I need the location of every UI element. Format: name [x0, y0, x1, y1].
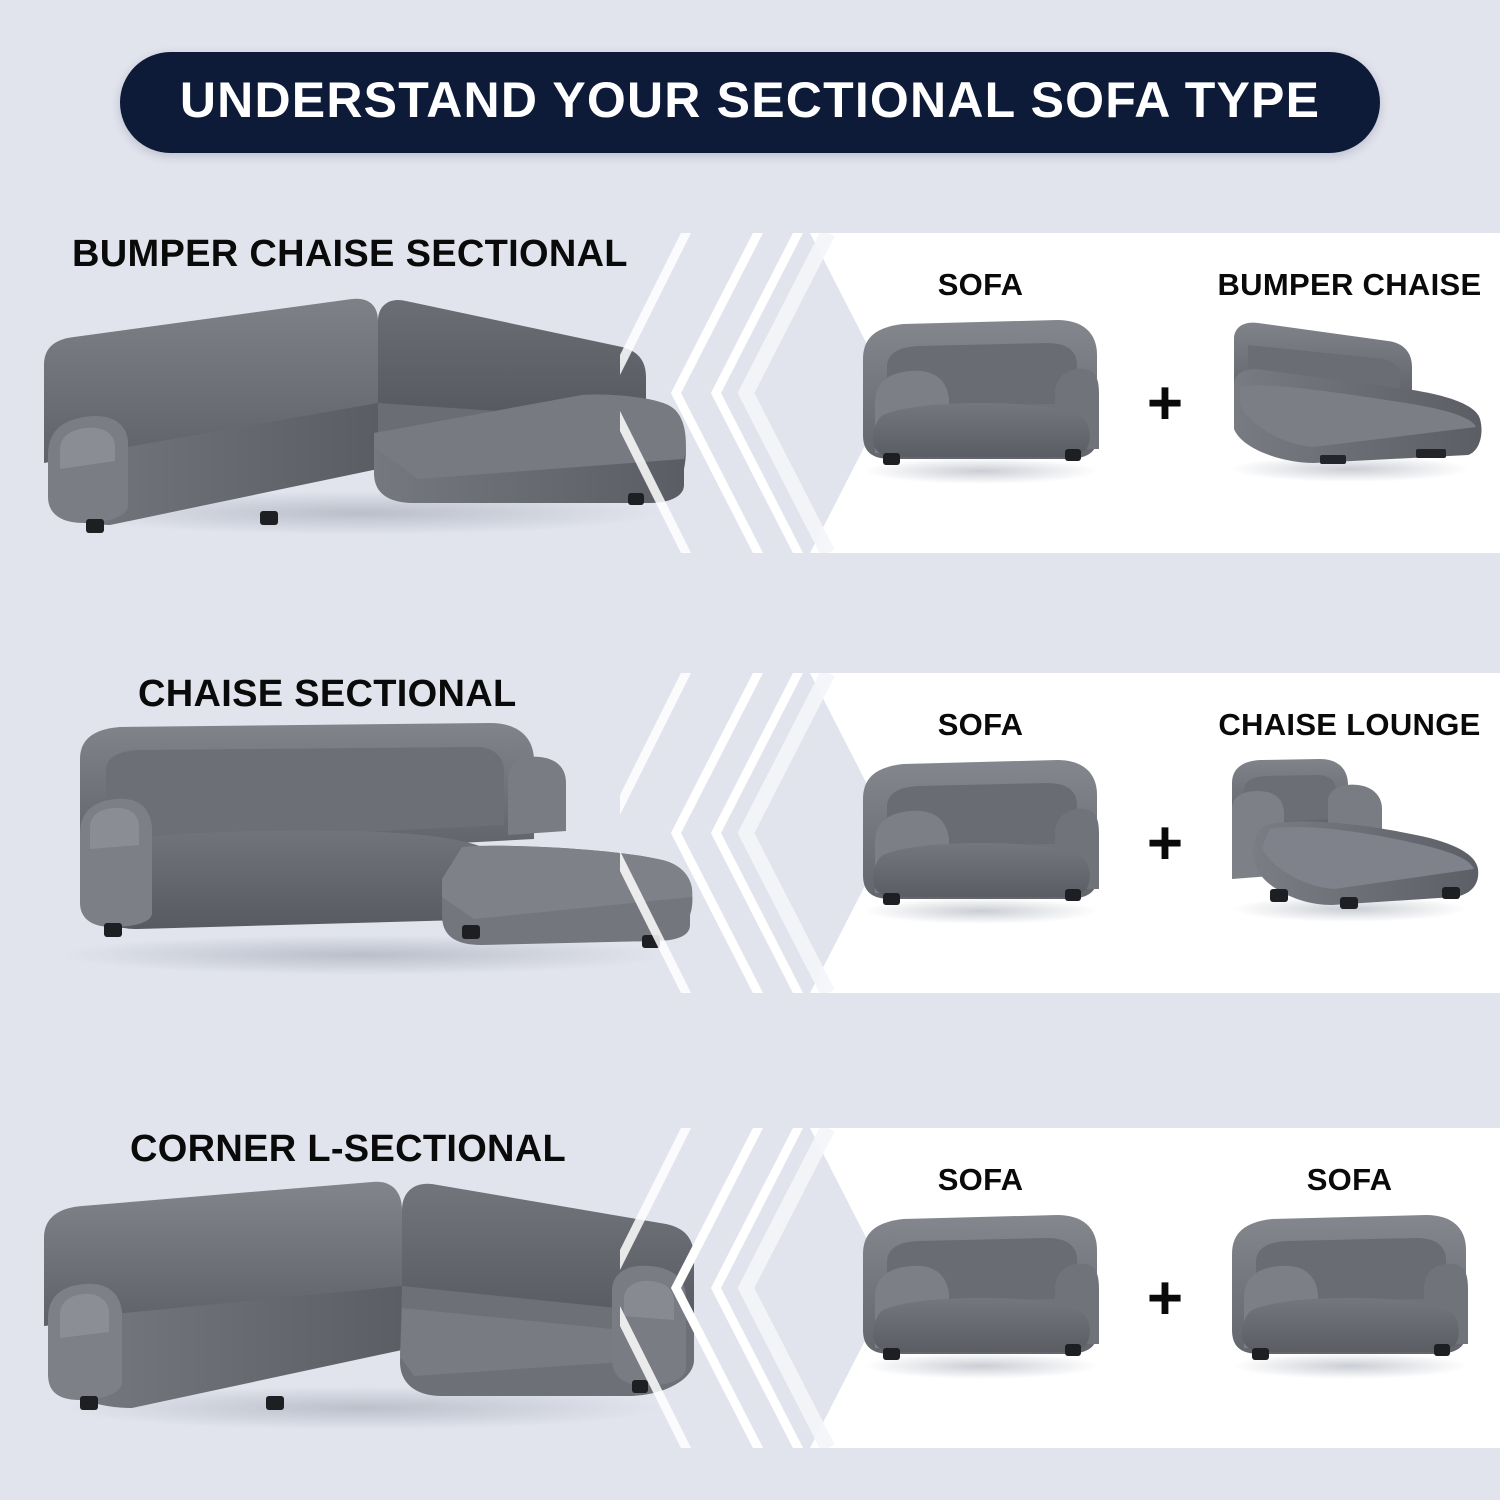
part-label: CHAISE LOUNGE: [1218, 707, 1480, 743]
title-banner-wrapper: UNDERSTAND YOUR SECTIONAL SOFA TYPE: [0, 52, 1500, 153]
title-banner: UNDERSTAND YOUR SECTIONAL SOFA TYPE: [120, 52, 1380, 153]
section-bumper-chaise-sectional: BUMPER CHAISE SECTIONAL: [0, 215, 1500, 555]
three-seat-sofa-icon: [1210, 1202, 1490, 1382]
part-item: CHAISE LOUNGE: [1207, 683, 1492, 983]
section-chaise-sectional: CHAISE SECTIONAL: [0, 655, 1500, 995]
comparison-panel: SOFA: [620, 233, 1500, 553]
parts-breakdown: SOFA: [830, 673, 1500, 993]
plus-operator: +: [1137, 373, 1193, 435]
plus-operator: +: [1137, 1268, 1193, 1330]
comparison-panel: SOFA: [620, 1128, 1500, 1448]
page-title: UNDERSTAND YOUR SECTIONAL SOFA TYPE: [180, 74, 1320, 127]
part-item: SOFA: [838, 243, 1123, 543]
part-label: SOFA: [1307, 1162, 1393, 1198]
hero-bumper-chaise-sectional-icon: [22, 273, 722, 541]
hero-chaise-sectional-icon: [22, 713, 722, 981]
section-title: BUMPER CHAISE SECTIONAL: [72, 233, 628, 276]
part-item: BUMPER CHAISE: [1207, 243, 1492, 543]
part-item: SOFA: [1207, 1138, 1492, 1438]
three-seat-sofa-icon: [841, 307, 1121, 487]
comparison-panel: SOFA: [620, 673, 1500, 993]
section-title: CORNER L-SECTIONAL: [130, 1128, 566, 1171]
part-label: SOFA: [938, 267, 1024, 303]
three-seat-sofa-icon: [841, 747, 1121, 927]
section-corner-l-sectional: CORNER L-SECTIONAL: [0, 1110, 1500, 1450]
part-label: SOFA: [938, 1162, 1024, 1198]
three-seat-sofa-icon: [841, 1202, 1121, 1382]
part-item: SOFA: [838, 1138, 1123, 1438]
part-label: BUMPER CHAISE: [1218, 267, 1482, 303]
hero-corner-l-sectional-icon: [22, 1168, 722, 1436]
parts-breakdown: SOFA: [830, 1128, 1500, 1448]
chaise-lounge-module-icon: [1210, 747, 1490, 927]
bumper-chaise-module-icon: [1210, 307, 1490, 487]
part-label: SOFA: [938, 707, 1024, 743]
part-item: SOFA: [838, 683, 1123, 983]
plus-operator: +: [1137, 813, 1193, 875]
parts-breakdown: SOFA: [830, 233, 1500, 553]
section-title: CHAISE SECTIONAL: [138, 673, 517, 716]
